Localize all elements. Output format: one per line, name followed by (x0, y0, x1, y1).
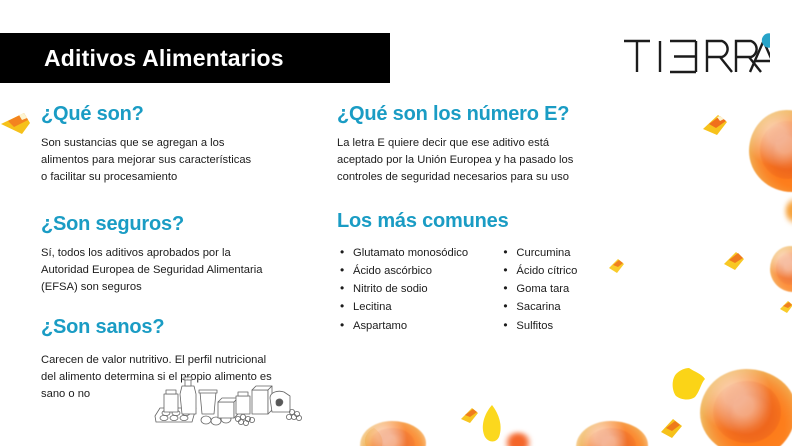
gummy-candy-icon (700, 369, 792, 446)
gummy-candy-icon (576, 421, 648, 446)
candy-glow (503, 432, 533, 446)
left-column: ¿Qué son? Son sustancias que se agregan … (41, 103, 313, 403)
list-item: Ácido ascórbico (353, 262, 500, 280)
list-item: Curcumina (516, 244, 637, 262)
heading-numero-e: ¿Qué son los número E? (337, 103, 637, 126)
body-line: aceptado por la Unión Europea y ha pasad… (337, 154, 573, 166)
body-line: Son sustancias que se agregan a los (41, 137, 224, 149)
food-containers-line-art (152, 372, 304, 434)
yellow-candy-icon (479, 404, 505, 446)
yellow-candy-icon (363, 428, 385, 446)
body-que-son: Son sustancias que se agregan a los alim… (41, 135, 313, 186)
body-line: Autoridad Europea de Seguridad Alimentar… (41, 264, 262, 276)
heading-son-seguros: ¿Son seguros? (41, 213, 313, 236)
heading-los-mas-comunes: Los más comunes (337, 210, 637, 233)
common-additives-lists: Glutamato monosódico Ácido ascórbico Nit… (337, 244, 637, 335)
list-item: Aspartamo (353, 317, 500, 335)
list-item: Sacarina (516, 298, 637, 316)
right-column: ¿Qué son los número E? La letra E quiere… (337, 103, 637, 335)
list-item: Nitrito de sodio (353, 280, 500, 298)
page-title: Aditivos Alimentarios (44, 45, 284, 72)
body-line: controles de seguridad necesarios para s… (337, 171, 569, 183)
list-item: Goma tara (516, 280, 637, 298)
body-line: sano o no (41, 388, 90, 400)
body-line: La letra E quiere decir que ese aditivo … (337, 137, 549, 149)
yellow-candy-icon (669, 367, 707, 408)
body-son-seguros: Sí, todos los aditivos aprobados por la … (41, 245, 313, 296)
slide-canvas: Aditivos Alimentarios (0, 0, 792, 446)
body-line: (EFSA) son seguros (41, 281, 142, 293)
body-numero-e: La letra E quiere decir que ese aditivo … (337, 135, 637, 186)
list-item: Glutamato monosódico (353, 244, 500, 262)
list-item: Sulfitos (516, 317, 637, 335)
body-line: o facilitar su procesamiento (41, 171, 177, 183)
candy-glow (785, 196, 792, 226)
gummy-candy-icon (749, 110, 792, 192)
heading-son-sanos: ¿Son sanos? (41, 316, 313, 339)
logo-dot (762, 33, 770, 47)
title-banner: Aditivos Alimentarios (0, 33, 390, 83)
list-item: Lecitina (353, 298, 500, 316)
additives-list-column-b: Curcumina Ácido cítrico Goma tara Sacari… (500, 244, 637, 335)
body-line: alimentos para mejorar sus característic… (41, 154, 251, 166)
heading-que-son: ¿Qué son? (41, 103, 313, 126)
body-line: Sí, todos los aditivos aprobados por la (41, 247, 231, 259)
additives-list-column-a: Glutamato monosódico Ácido ascórbico Nit… (337, 244, 500, 335)
gummy-candy-icon (770, 246, 792, 292)
list-item: Ácido cítrico (516, 262, 637, 280)
brand-logo[interactable] (622, 32, 770, 74)
body-line: Carecen de valor nutritivo. El perfil nu… (41, 354, 266, 366)
